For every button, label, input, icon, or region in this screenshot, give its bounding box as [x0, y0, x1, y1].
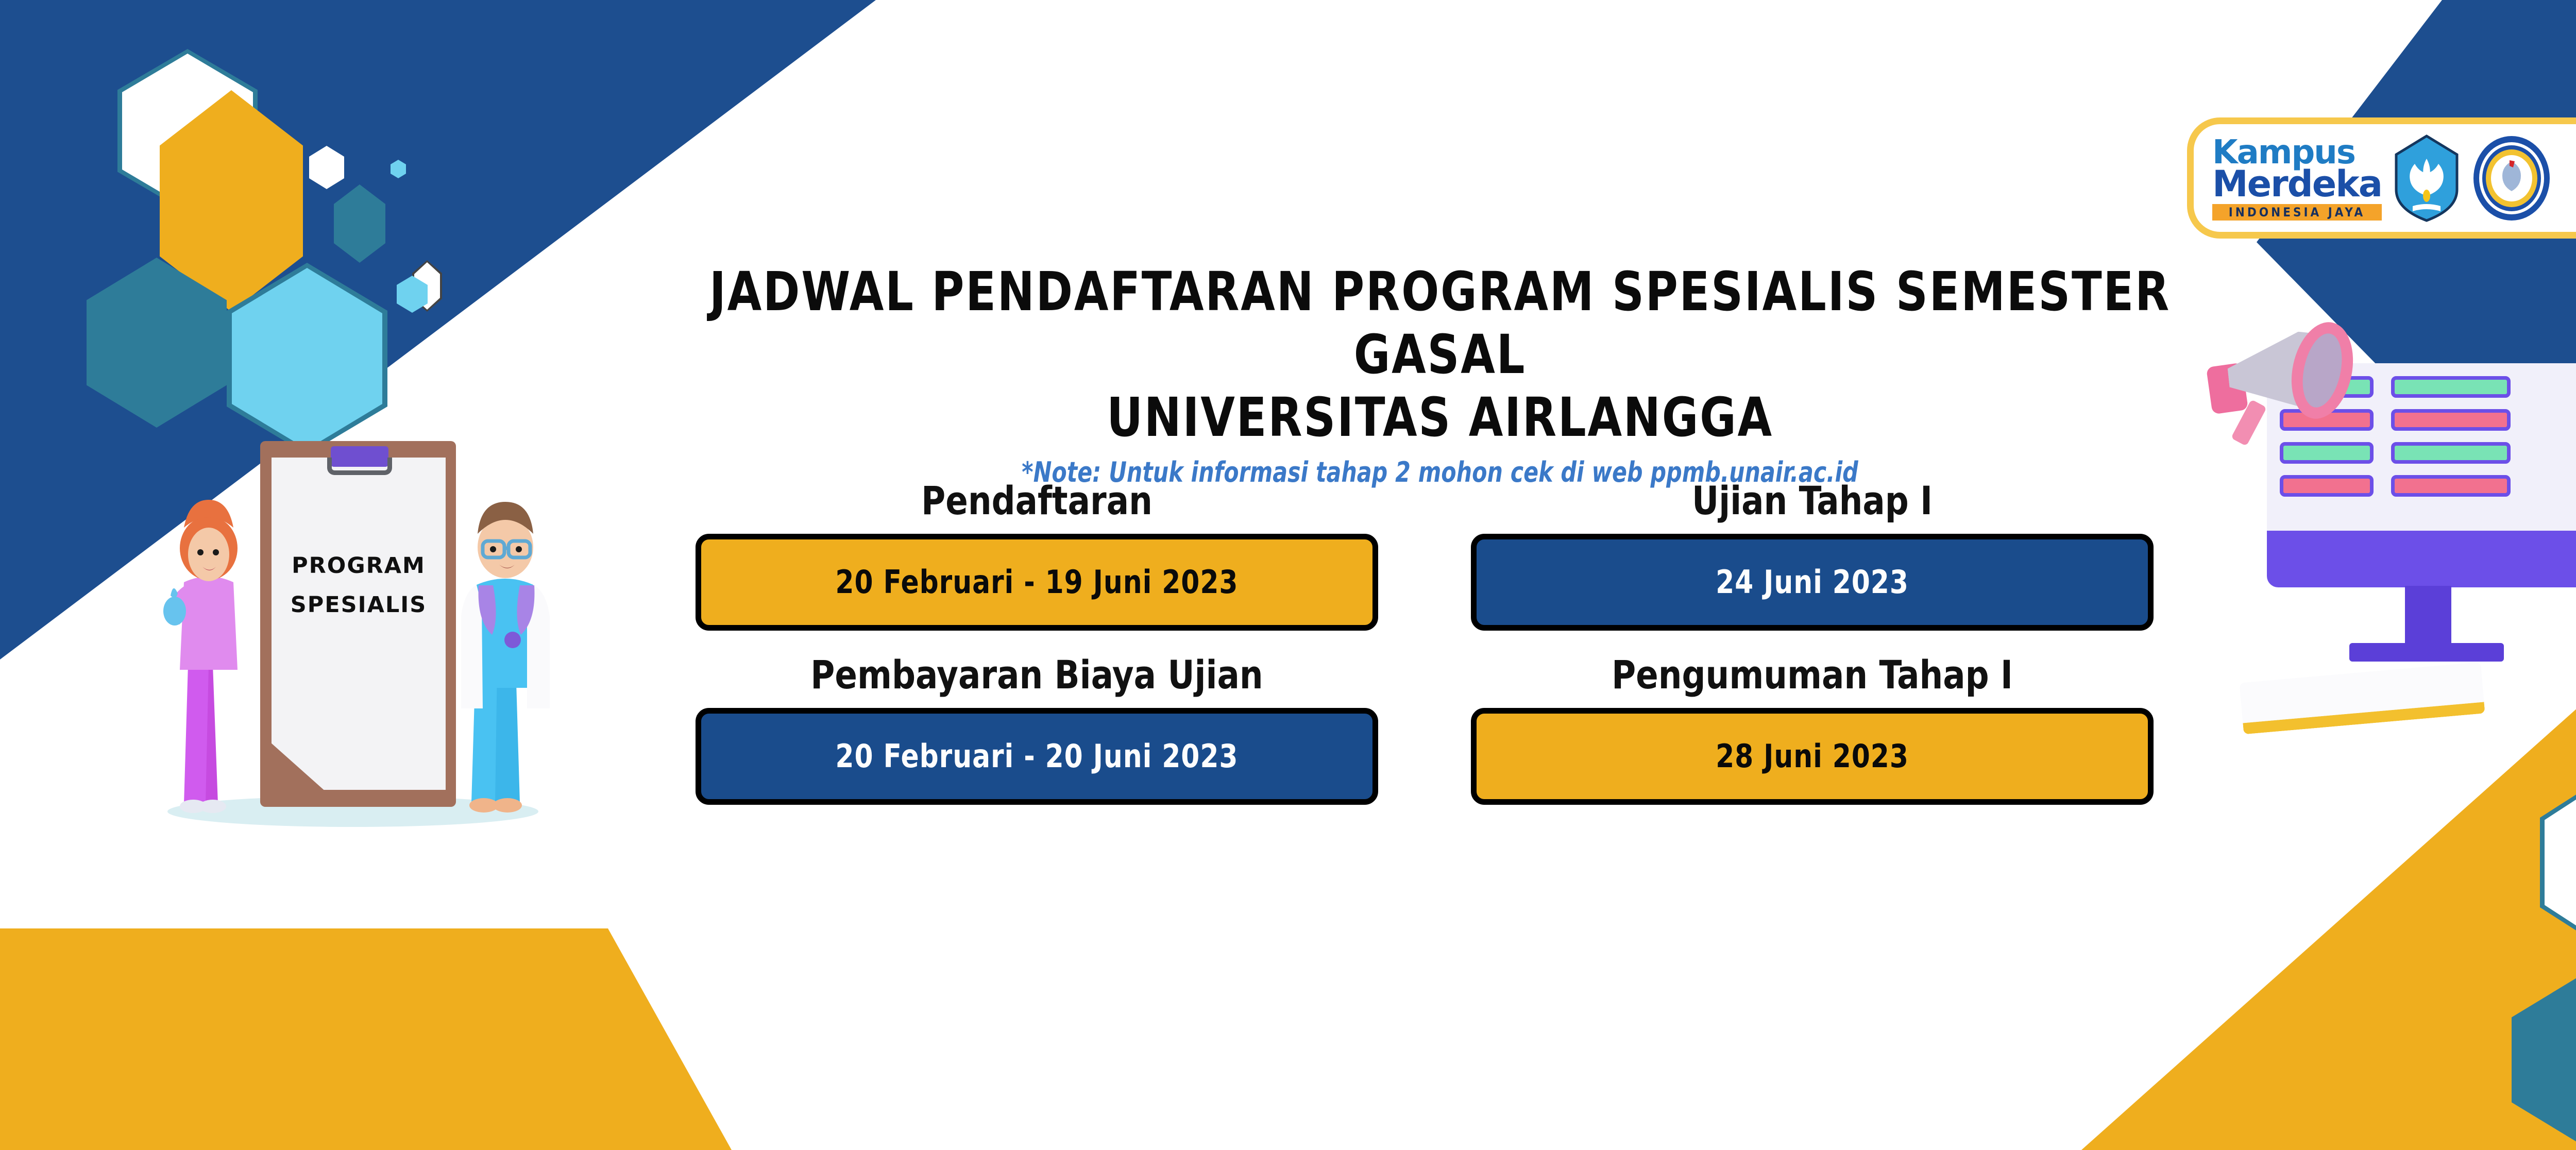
- clipboard-text-line-1: PROGRAM: [272, 546, 446, 585]
- schedule-item-pendaftaran: Pendaftaran 20 Februari - 19 Juni 2023: [696, 479, 1378, 631]
- schedule-value: 20 Februari - 19 Juni 2023: [836, 565, 1239, 599]
- monitor-bar-pink: [2391, 409, 2511, 431]
- schedule-value: 20 Februari - 20 Juni 2023: [836, 739, 1239, 773]
- corner-shape-bottom-left: [0, 928, 732, 1150]
- schedule-label: Pengumuman Tahap I: [1492, 653, 2133, 697]
- kemdikbud-logo-icon: [2392, 134, 2461, 223]
- schedule-label: Pendaftaran: [716, 479, 1358, 522]
- poster-canvas: Kampus Merdeka INDONESIA JAYA: [0, 0, 2576, 1150]
- schedule-item-pembayaran-biaya-ujian: Pembayaran Biaya Ujian 20 Februari - 20 …: [696, 653, 1378, 805]
- nurse-character-icon: [157, 495, 260, 814]
- monitor-row: [2280, 475, 2576, 497]
- clipboard-clamp-icon: [327, 458, 392, 475]
- clipboard-text: PROGRAM SPESIALIS: [272, 546, 446, 624]
- schedule-item-pengumuman-tahap-1: Pengumuman Tahap I 28 Juni 2023: [1471, 653, 2154, 805]
- monitor-bar-green: [2280, 442, 2374, 464]
- badge-word-merdeka: Merdeka: [2212, 166, 2382, 202]
- schedule-row-1: Pendaftaran 20 Februari - 19 Juni 2023 U…: [696, 479, 2154, 631]
- doctor-character-icon: [446, 495, 564, 814]
- schedule-grid: Pendaftaran 20 Februari - 19 Juni 2023 U…: [696, 479, 2154, 805]
- monitor-foot: [2349, 643, 2504, 662]
- schedule-value: 24 Juni 2023: [1716, 565, 1909, 599]
- schedule-card[interactable]: 24 Juni 2023: [1471, 534, 2154, 631]
- schedule-card[interactable]: 20 Februari - 19 Juni 2023: [696, 534, 1378, 631]
- megaphone-monitor-illustration: [2200, 309, 2576, 773]
- badge-ribbon-indonesia-jaya: INDONESIA JAYA: [2212, 204, 2382, 221]
- monitor-bar-green: [2391, 376, 2511, 398]
- page-title-line-2: UNIVERSITAS AIRLANGGA: [651, 386, 2229, 449]
- schedule-label: Pembayaran Biaya Ujian: [716, 653, 1358, 697]
- clipboard-doctors-illustration: PROGRAM SPESIALIS: [106, 417, 600, 845]
- kampus-merdeka-badge: Kampus Merdeka INDONESIA JAYA: [2187, 117, 2576, 239]
- schedule-item-ujian-tahap-1: Ujian Tahap I 24 Juni 2023: [1471, 479, 2154, 631]
- clipboard-text-line-2: SPESIALIS: [272, 585, 446, 624]
- schedule-value: 28 Juni 2023: [1716, 739, 1909, 773]
- keyboard-icon: [2240, 662, 2485, 735]
- monitor-bar-green: [2391, 442, 2511, 464]
- schedule-row-2: Pembayaran Biaya Ujian 20 Februari - 20 …: [696, 653, 2154, 805]
- page-title-line-1: JADWAL PENDAFTARAN PROGRAM SPESIALIS SEM…: [651, 260, 2229, 386]
- monitor-bar-pink: [2391, 475, 2511, 497]
- schedule-card[interactable]: 20 Februari - 20 Juni 2023: [696, 708, 1378, 805]
- kampus-merdeka-wordmark: Kampus Merdeka INDONESIA JAYA: [2212, 136, 2382, 221]
- monitor-row: [2280, 442, 2576, 464]
- monitor-base: [2267, 531, 2576, 587]
- schedule-label: Ujian Tahap I: [1492, 479, 2133, 522]
- schedule-card[interactable]: 28 Juni 2023: [1471, 708, 2154, 805]
- unair-logo-icon: [2471, 134, 2552, 222]
- title-block: JADWAL PENDAFTARAN PROGRAM SPESIALIS SEM…: [582, 260, 2298, 488]
- monitor-bar-pink: [2280, 475, 2374, 497]
